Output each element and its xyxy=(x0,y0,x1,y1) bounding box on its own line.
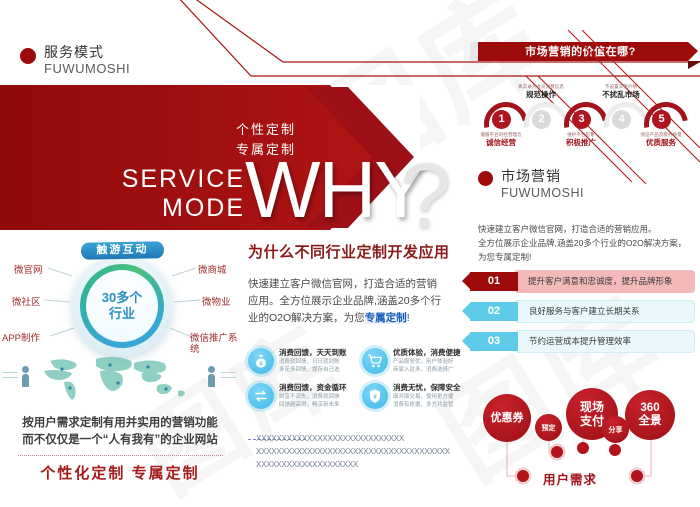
step-title-4: 不扰乱市场 xyxy=(589,90,653,100)
question-mark: ? xyxy=(400,150,451,242)
feature-sub-1: 消费就回馈，日日就到账 xyxy=(279,358,347,366)
benefit-number-01: 01 xyxy=(488,275,500,287)
benefit-row[interactable]: 提升客户满意和忠诚度，提升品牌形象 01 xyxy=(470,272,695,291)
benefits-list: 提升客户满意和忠诚度，提升品牌形象 01 良好服务与客户建立长期关系 02 节约… xyxy=(470,272,695,362)
bullet-dot-icon xyxy=(20,48,36,64)
bubble-coupon-label: 优惠券 xyxy=(491,412,524,425)
middle-paragraph-pre: 快速建立客户微信官网，打造合适的营销应用。全方位展示企业品牌,涵盖20多个行业的… xyxy=(248,278,441,324)
circle-label-weixin-tuiguang: 微信推广系统 xyxy=(190,333,238,355)
circle-center-line2: 行业 xyxy=(109,306,135,321)
step-title-3: 积极推广 xyxy=(549,138,613,148)
left-divider xyxy=(18,455,223,456)
bubble-share[interactable]: 分享 xyxy=(602,416,629,443)
benefit-row[interactable]: 节约运营成本提升管理效率 03 xyxy=(470,332,695,351)
placeholder-line-2: XXXXXXXXXXXXXXXXXXXXXXXXXXXXXXXXXXXXXX xyxy=(256,447,450,457)
feature-title: 消费回馈，资金循环 xyxy=(279,383,347,393)
benefit-number-03: 03 xyxy=(488,335,500,347)
person-icon-right xyxy=(208,366,215,388)
feature-card[interactable]: 优质体验，消费便捷 产品服务优，用户体验好 商家入驻多，消费选择广 xyxy=(362,348,466,374)
person-icon-left xyxy=(22,366,29,388)
middle-paragraph-post: ! xyxy=(407,312,410,324)
feature-sub-1: 财富不流失，消费就回馈 xyxy=(279,393,347,401)
middle-heading: 为什么不同行业定制开发应用 xyxy=(248,241,450,262)
middle-paragraph-highlight: 专属定制 xyxy=(365,312,407,324)
map-dash xyxy=(220,372,236,373)
benefit-tag-01: 01 xyxy=(470,272,518,291)
brand-title-en: FUWUMOSHI xyxy=(44,61,130,77)
step-caption-1: 遵循平台的经营理念 诚信经营 xyxy=(469,132,533,148)
bubble-payment-line1: 现场 xyxy=(580,400,604,414)
circle-label-weiwuye: 微物业 xyxy=(202,294,231,308)
feature-sub-1: 产品服务优，用户体验好 xyxy=(393,358,461,366)
bubble-360-line1: 360 xyxy=(640,402,659,414)
poster-canvas: 图库 图库 图库 服务模式 FUWUMOSHI SERVICE MODE 个性定… xyxy=(0,0,700,507)
feature-title: 优质体验，消费便捷 xyxy=(393,348,461,358)
step-number-1: 1 xyxy=(492,110,511,129)
node-dot xyxy=(577,442,589,454)
step-caption-3: 维护平台形象 积极推广 xyxy=(549,132,613,148)
left-lead-text: 按用户需求定制有用并实用的营销功能 而不仅仅是一个“人有我有”的企业网站 xyxy=(0,415,240,449)
middle-paragraph: 快速建立客户微信官网，打造合适的营销应用。全方位展示企业品牌,涵盖20多个行业的… xyxy=(248,276,444,327)
service-mode-text: SERVICE MODE xyxy=(95,165,245,223)
step-number-4: 4 xyxy=(612,110,631,129)
brand-marketing: 市场营销 FUWUMOSHI xyxy=(478,168,584,201)
feature-row: ¥ 消费回馈，天天到账 消费就回馈，日日就到账 多花多回馈，提存自己选 优质体验… xyxy=(248,348,466,374)
benefit-text-03: 节约运营成本提升管理效率 xyxy=(514,330,695,353)
right-paragraph-line-3: 为您专属定制! xyxy=(478,250,693,264)
industry-circle-diagram: 30多个 行业 触游互动 微官网 微社区 APP制作 微商城 微物业 微信推广系… xyxy=(0,238,240,368)
step-number-3: 3 xyxy=(572,110,591,129)
feature-card[interactable]: ¥ 消费回馈，天天到账 消费就回馈，日日就到账 多花多回馈，提存自己选 xyxy=(248,348,352,374)
node-dot xyxy=(551,446,563,458)
right-paragraph-line-2: 全方位展示企业品牌,涵盖20多个行业的O2O解决方案， xyxy=(478,236,693,250)
step-number-2: 2 xyxy=(532,110,551,129)
placeholder-line-3: XXXXXXXXXXXXXXXXXXXX xyxy=(256,460,358,470)
map-dash xyxy=(220,377,236,378)
step-title-5: 优质服务 xyxy=(629,138,693,148)
left-lead-line-1: 按用户需求定制有用并实用的营销功能 xyxy=(0,415,240,432)
node-dot xyxy=(517,470,529,482)
circle-label-weishequ: 微社区 xyxy=(12,294,41,308)
bubble-reservation[interactable]: 预定 xyxy=(535,414,562,441)
five-steps-diagram: 1 2 3 4 5 真实录入会员消费信息 规范操作 不设置双重价格 不扰乱市场 … xyxy=(468,88,700,146)
bubble-360-line2: 全景 xyxy=(639,415,662,427)
bubble-360-panorama[interactable]: 360 全景 xyxy=(625,390,675,440)
service-line-2: MODE xyxy=(95,194,245,223)
placeholder-line-1: XXXXXXXXXXXXXXXXXXXXXXXXXXXXX xyxy=(256,434,404,444)
feature-card[interactable]: 消费回馈，资金循环 财富不流失，消费就回馈 回馈越高得，畅享新未来 xyxy=(248,383,352,409)
step-title-2: 规范操作 xyxy=(509,90,573,100)
circle-label-app: APP制作 xyxy=(2,330,40,344)
right-paragraph-line-1: 快速建立客户微信官网，打造合适的营销应用。 xyxy=(478,222,693,236)
marketing-title-en: FUWUMOSHI xyxy=(501,185,584,201)
right-paragraph: 快速建立客户微信官网，打造合适的营销应用。 全方位展示企业品牌,涵盖20多个行业… xyxy=(478,222,693,264)
why-headline: WHY xyxy=(245,150,426,230)
circle-ribbon: 触游互动 xyxy=(75,240,170,261)
benefit-row[interactable]: 良好服务与客户建立长期关系 02 xyxy=(470,302,695,321)
world-map-graphic xyxy=(0,355,240,403)
world-map-icon xyxy=(30,355,200,401)
step-title-1: 诚信经营 xyxy=(469,138,533,148)
feature-sub-2: 回馈越高得，畅享新未来 xyxy=(279,401,347,409)
feature-grid: ¥ 消费回馈，天天到账 消费就回馈，日日就到账 多花多回馈，提存自己选 优质体验… xyxy=(248,348,466,418)
map-dash xyxy=(2,372,18,373)
benefit-text-02: 良好服务与客户建立长期关系 xyxy=(514,300,695,323)
feature-sub-1: 面对面交易，使用更方便 xyxy=(393,393,461,401)
step-number-5: 5 xyxy=(652,110,671,129)
feature-title: 消费无忧，保障安全 xyxy=(393,383,461,393)
brand-service-mode: 服务模式 FUWUMOSHI xyxy=(20,44,130,77)
step-caption-4: 不设置双重价格 不扰乱市场 xyxy=(589,84,653,100)
money-bag-icon: ¥ xyxy=(248,348,274,374)
feature-sub-2: 商家入驻多，消费选择广 xyxy=(393,366,461,374)
feature-title: 消费回馈，天天到账 xyxy=(279,348,347,358)
user-needs-diagram: 优惠券 现场 支付 360 全景 预定 分享 用户需求 xyxy=(465,380,700,505)
bubble-coupon[interactable]: 优惠券 xyxy=(483,394,531,442)
shopping-cart-icon xyxy=(362,348,388,374)
feature-sub-2: 多花多回馈，提存自己选 xyxy=(279,366,347,374)
node-dot xyxy=(609,444,621,456)
node-dot xyxy=(631,470,643,482)
bubble-payment-line2: 支付 xyxy=(580,414,604,428)
exchange-arrows-icon xyxy=(248,383,274,409)
circle-label-weishangcheng: 微商城 xyxy=(198,262,227,276)
marketing-title-cn: 市场营销 xyxy=(501,168,584,185)
benefit-number-02: 02 xyxy=(488,305,500,317)
benefit-tag-03: 03 xyxy=(470,332,518,351)
circle-center-line1: 30多个 xyxy=(102,290,142,305)
step-caption-5: 保证产品及服务质量 优质服务 xyxy=(629,132,693,148)
map-dash xyxy=(2,377,18,378)
circle-label-weiguanwang: 微官网 xyxy=(14,262,43,276)
user-needs-label: 用户需求 xyxy=(543,469,597,488)
service-line-1: SERVICE xyxy=(95,165,245,194)
bubble-reservation-label: 预定 xyxy=(542,423,556,433)
custom-line-1: 个性定制 xyxy=(236,120,296,140)
benefit-tag-02: 02 xyxy=(470,302,518,321)
circle-ribbon-label: 触游互动 xyxy=(81,241,164,259)
left-lead-line-2: 而不仅仅是一个“人有我有”的企业网站 xyxy=(0,432,240,449)
bullet-dot-icon xyxy=(478,171,493,186)
benefit-text-01: 提升客户满意和忠诚度，提升品牌形象 xyxy=(514,270,695,293)
bubble-share-label: 分享 xyxy=(609,425,623,435)
circle-center: 30多个 行业 xyxy=(86,270,158,342)
brand-title-cn: 服务模式 xyxy=(44,44,130,61)
step-caption-2: 真实录入会员消费信息 规范操作 xyxy=(509,84,573,100)
feature-card[interactable]: ¥ 消费无忧，保障安全 面对面交易，使用更方便 消费有依据，多方共监管 xyxy=(362,383,466,409)
feature-row: 消费回馈，资金循环 财富不流失，消费就回馈 回馈越高得，畅享新未来 ¥ 消费无忧… xyxy=(248,383,466,409)
feature-sub-2: 消费有依据，多方共监管 xyxy=(393,401,461,409)
left-highlight-text: 个性化定制 专属定制 xyxy=(0,462,240,483)
shield-lock-icon: ¥ xyxy=(362,383,388,409)
